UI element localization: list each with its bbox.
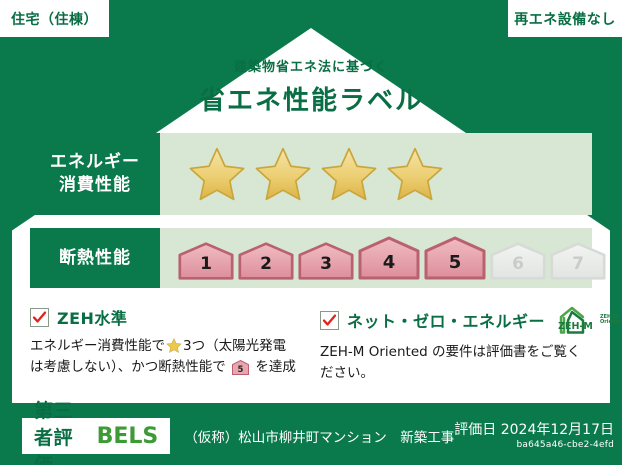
- insulation-grade-label: 6: [490, 254, 546, 274]
- energy-heading-line2: 消費性能: [50, 174, 140, 197]
- insulation-grade-scale: 1234567: [160, 236, 606, 280]
- renewable-energy-tag-label: 再エネ設備なし: [514, 9, 616, 29]
- zeh-standard-block: ZEH水準 エネルギー消費性能で 3つ（太陽光発電 は考慮しない）、かつ断熱性能…: [30, 305, 302, 384]
- insulation-heading-label: 断熱性能: [59, 247, 131, 270]
- building-name: （仮称）松山市柳井町マンション 新築工事: [184, 426, 454, 446]
- insulation-performance-row: 断熱性能 1234567: [30, 228, 592, 288]
- renewable-energy-tag: 再エネ設備なし: [507, 0, 622, 38]
- zeh-standard-header: ZEH水準: [30, 305, 302, 329]
- zeh-m-logo: ZEH-M ZEH-M Oriented: [557, 305, 622, 335]
- title-subtitle: 建築物省エネ法に基づく: [0, 56, 622, 75]
- evaluation-id: ba645a46-cbe2-4efd: [454, 440, 614, 450]
- insulation-grade-4: 4: [358, 236, 420, 280]
- title-block: 建築物省エネ法に基づく 省エネ性能ラベル: [0, 56, 622, 117]
- zeh-m-sub-line2: Oriented: [600, 319, 622, 325]
- insulation-grade-3: 3: [298, 242, 354, 280]
- inline-grade-value: 5: [238, 365, 244, 375]
- insulation-performance-heading: 断熱性能: [30, 228, 160, 288]
- zeh-desc-star-count: 3つ（太陽光発電: [183, 338, 286, 354]
- bels-logo-en: BELS: [97, 424, 159, 449]
- zeh-desc-part3: を達成: [255, 359, 296, 375]
- net-zero-checkbox[interactable]: [320, 311, 339, 330]
- energy-performance-body: [160, 133, 592, 215]
- insulation-performance-body: 1234567: [160, 228, 606, 288]
- inline-grade-badge: 5: [228, 363, 254, 379]
- building-type-tag: 住宅（住棟）: [0, 0, 110, 38]
- evaluation-info: 評価日 2024年12月17日 ba645a46-cbe2-4efd: [454, 422, 614, 450]
- star-icon: [254, 146, 312, 202]
- insulation-grade-label: 7: [550, 254, 606, 274]
- insulation-grade-1: 1: [178, 242, 234, 280]
- insulation-grade-label: 4: [358, 252, 420, 273]
- zeh-standard-title: ZEH水準: [57, 305, 127, 329]
- net-zero-energy-block: ネット・ゼロ・エネルギー ZEH-M ZEH-M Oriented ZEH-M …: [320, 305, 592, 384]
- insulation-grade-6: 6: [490, 242, 546, 280]
- zeh-standard-description: エネルギー消費性能で 3つ（太陽光発電 は考慮しない）、かつ断熱性能で 5 を達…: [30, 336, 302, 382]
- insulation-grade-label: 2: [238, 254, 294, 274]
- energy-performance-label: 住宅（住棟） 再エネ設備なし 建築物省エネ法に基づく 省エネ性能ラベル エネルギ…: [0, 0, 622, 465]
- insulation-grade-2: 2: [238, 242, 294, 280]
- building-type-tag-label: 住宅（住棟）: [11, 9, 98, 29]
- star-icon: [320, 146, 378, 202]
- evaluation-date: 評価日 2024年12月17日: [454, 422, 614, 438]
- zeh-m-house-icon: ZEH-M: [557, 305, 597, 335]
- insulation-grade-7: 7: [550, 242, 606, 280]
- star-icon-inline: [166, 338, 182, 353]
- star-icon: [386, 146, 444, 202]
- net-zero-energy-header: ネット・ゼロ・エネルギー ZEH-M ZEH-M Oriented: [320, 305, 592, 335]
- energy-performance-row: エネルギー 消費性能: [30, 133, 592, 215]
- zeh-m-logo-subtext: ZEH-M Oriented: [600, 315, 622, 326]
- energy-performance-heading: エネルギー 消費性能: [30, 133, 160, 215]
- zeh-checkbox[interactable]: [30, 308, 49, 327]
- net-zero-energy-title: ネット・ゼロ・エネルギー: [347, 308, 545, 332]
- insulation-grade-label: 1: [178, 254, 234, 274]
- zeh-desc-part2: は考慮しない）、かつ断熱性能で: [30, 359, 226, 375]
- bels-logo: 第三者評価 BELS: [22, 418, 170, 454]
- zeh-desc-part1: エネルギー消費性能で: [30, 338, 165, 354]
- evaluation-date-label: 評価日: [454, 422, 496, 438]
- evaluation-date-value: 2024年12月17日: [501, 422, 614, 438]
- star-rating: [160, 146, 444, 202]
- certification-checks: ZEH水準 エネルギー消費性能で 3つ（太陽光発電 は考慮しない）、かつ断熱性能…: [30, 305, 592, 384]
- star-icon: [188, 146, 246, 202]
- bottom-bar: 第三者評価 BELS （仮称）松山市柳井町マンション 新築工事 評価日 2024…: [0, 407, 622, 465]
- insulation-grade-label: 5: [424, 252, 486, 273]
- insulation-grade-label: 3: [298, 254, 354, 274]
- energy-heading-line1: エネルギー: [50, 151, 140, 174]
- bels-logo-jp: 第三者評価: [34, 396, 90, 465]
- title-main: 省エネ性能ラベル: [0, 80, 622, 117]
- house-grade-icon-inline: 5: [232, 360, 249, 375]
- insulation-grade-5: 5: [424, 236, 486, 280]
- checkmark-icon: [32, 310, 47, 325]
- zeh-m-logo-text: ZEH-M: [558, 321, 593, 332]
- checkmark-icon: [322, 313, 337, 328]
- net-zero-energy-description: ZEH-M Oriented の要件は評価書をご覧ください。: [320, 342, 592, 384]
